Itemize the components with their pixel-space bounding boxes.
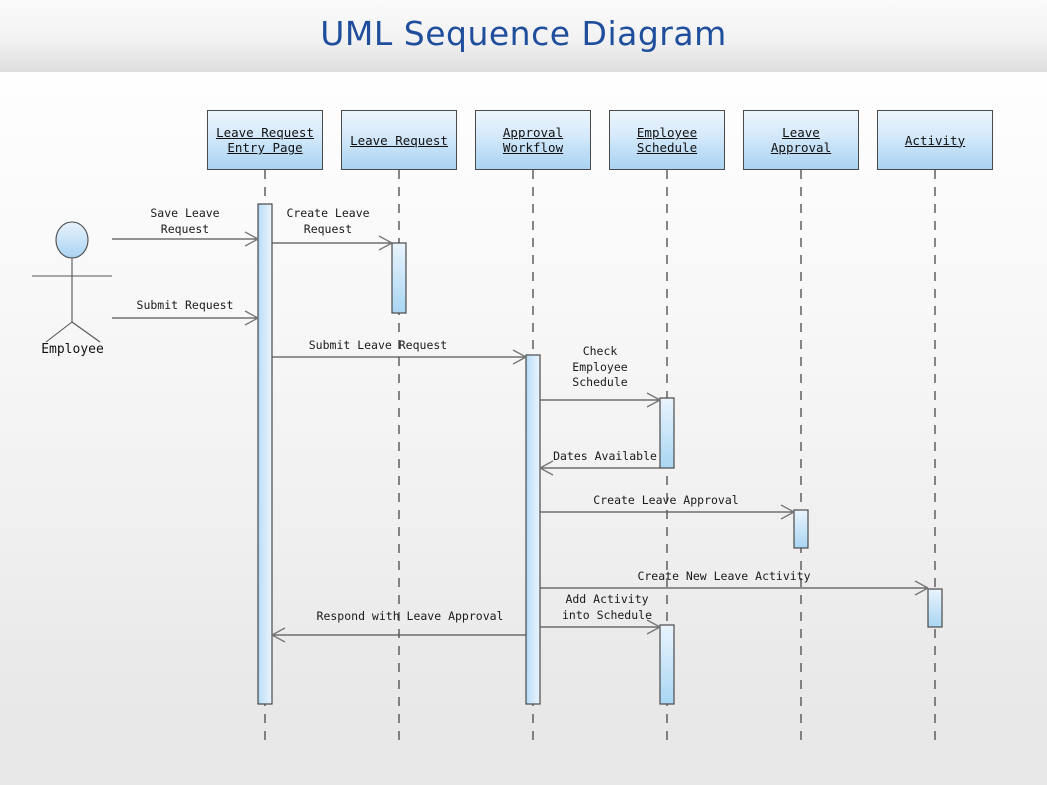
arrowhead-icon (379, 243, 392, 250)
activation-bar-act-approval-wf[interactable] (526, 355, 540, 704)
arrowhead-icon (647, 400, 660, 407)
activation-bar-act-leave-request[interactable] (392, 243, 406, 313)
arrowhead-icon (272, 635, 285, 642)
message-m1[interactable] (112, 232, 258, 246)
arrowhead-icon (245, 239, 258, 246)
arrowhead-icon (379, 236, 392, 243)
actor-label: Employee (0, 342, 145, 357)
activation-bar-act-emp-sched-2[interactable] (660, 625, 674, 704)
arrowhead-icon (272, 628, 285, 635)
message-m2[interactable] (272, 236, 392, 250)
lifeline-header-label: Employee Schedule (637, 125, 697, 155)
activations-layer (258, 204, 942, 704)
arrowhead-icon (540, 461, 553, 468)
arrowhead-icon (540, 468, 553, 475)
arrowhead-icon (915, 581, 928, 588)
message-m9[interactable] (540, 620, 660, 634)
arrowhead-icon (647, 627, 660, 634)
arrowhead-icon (647, 393, 660, 400)
messages-layer (112, 232, 928, 642)
actor-stick-figure (32, 222, 112, 342)
arrowhead-icon (245, 232, 258, 239)
activation-bar-act-entry-page[interactable] (258, 204, 272, 704)
arrowhead-icon (245, 311, 258, 318)
actor-left-leg-line (46, 322, 72, 342)
arrowhead-icon (513, 357, 526, 364)
activation-bar-act-emp-sched-1[interactable] (660, 398, 674, 468)
message-m5[interactable] (540, 393, 660, 407)
activation-bar-act-activity[interactable] (928, 589, 942, 627)
message-m6[interactable] (540, 461, 660, 475)
lifeline-header-label: Leave Approval (771, 125, 831, 155)
message-m3[interactable] (112, 311, 258, 325)
actor-right-leg-line (72, 322, 100, 342)
lifeline-header-label: Leave Request (350, 133, 448, 148)
arrowhead-icon (513, 350, 526, 357)
actor-head-icon (56, 222, 88, 258)
lifeline-header-leave-request[interactable]: Leave Request (341, 110, 457, 170)
arrowhead-icon (245, 318, 258, 325)
arrowhead-icon (647, 620, 660, 627)
arrowhead-icon (781, 505, 794, 512)
lifeline-header-label: Approval Workflow (503, 125, 563, 155)
lifeline-header-activity[interactable]: Activity (877, 110, 993, 170)
arrowhead-icon (781, 512, 794, 519)
lifeline-header-leave-approval[interactable]: Leave Approval (743, 110, 859, 170)
lifeline-header-employee-schedule[interactable]: Employee Schedule (609, 110, 725, 170)
message-m8[interactable] (540, 581, 928, 595)
lifeline-header-entry-page[interactable]: Leave Request Entry Page (207, 110, 323, 170)
diagram-page: UML Sequence Diagram (0, 0, 1047, 785)
lifeline-header-approval-workflow[interactable]: Approval Workflow (475, 110, 591, 170)
arrowhead-icon (915, 588, 928, 595)
activation-bar-act-leave-approval[interactable] (794, 510, 808, 548)
lifeline-header-label: Activity (905, 133, 965, 148)
lifelines-layer (265, 170, 935, 742)
lifeline-header-label: Leave Request Entry Page (216, 125, 314, 155)
